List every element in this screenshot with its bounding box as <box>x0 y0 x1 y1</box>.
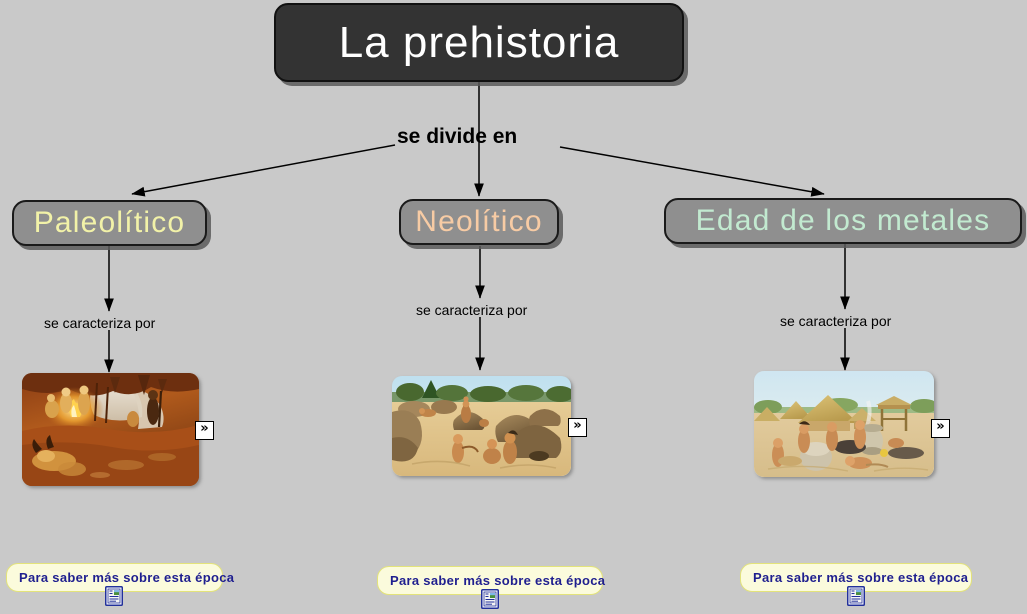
document-icon-neolitico[interactable] <box>481 589 499 609</box>
info-link-label-paleolitico: Para saber más sobre esta época <box>19 570 234 585</box>
node-era-label-paleolitico: Paleolítico <box>34 206 186 240</box>
image-cave-scene-paleolithic[interactable] <box>22 373 199 486</box>
info-link-label-neolitico: Para saber más sobre esta época <box>390 573 605 588</box>
image-settlement-scene-neolithic[interactable] <box>392 376 571 476</box>
link-phrase-se-divide-en: se divide en <box>397 125 517 149</box>
expander-paleolitico-image[interactable]: » <box>195 421 214 440</box>
document-icon-edad-de-los-metales[interactable] <box>847 586 865 606</box>
image-village-scene-metal-age[interactable] <box>754 371 934 477</box>
node-title-label: La prehistoria <box>339 18 620 68</box>
node-era-paleolitico[interactable]: Paleolítico <box>12 200 207 246</box>
node-title-la-prehistoria[interactable]: La prehistoria <box>274 3 684 82</box>
concept-map-canvas: La prehistoria se divide en Paleolítico … <box>0 0 1027 608</box>
node-era-label-neolitico: Neolítico <box>415 205 543 239</box>
info-link-label-edad-de-los-metales: Para saber más sobre esta época <box>753 570 968 585</box>
document-icon-paleolitico[interactable] <box>105 586 123 606</box>
expander-edad-de-los-metales-image[interactable]: » <box>931 419 950 438</box>
link-phrase-se-caracteriza-por-neolitico: se caracteriza por <box>416 302 527 318</box>
node-era-label-edad-de-los-metales: Edad de los metales <box>696 204 991 238</box>
link-phrase-se-caracteriza-por-edad-de-los-metales: se caracteriza por <box>780 313 891 329</box>
node-era-edad-de-los-metales[interactable]: Edad de los metales <box>664 198 1022 244</box>
node-era-neolitico[interactable]: Neolítico <box>399 199 559 245</box>
link-phrase-se-caracteriza-por-paleolitico: se caracteriza por <box>44 315 155 331</box>
expander-neolitico-image[interactable]: » <box>568 418 587 437</box>
